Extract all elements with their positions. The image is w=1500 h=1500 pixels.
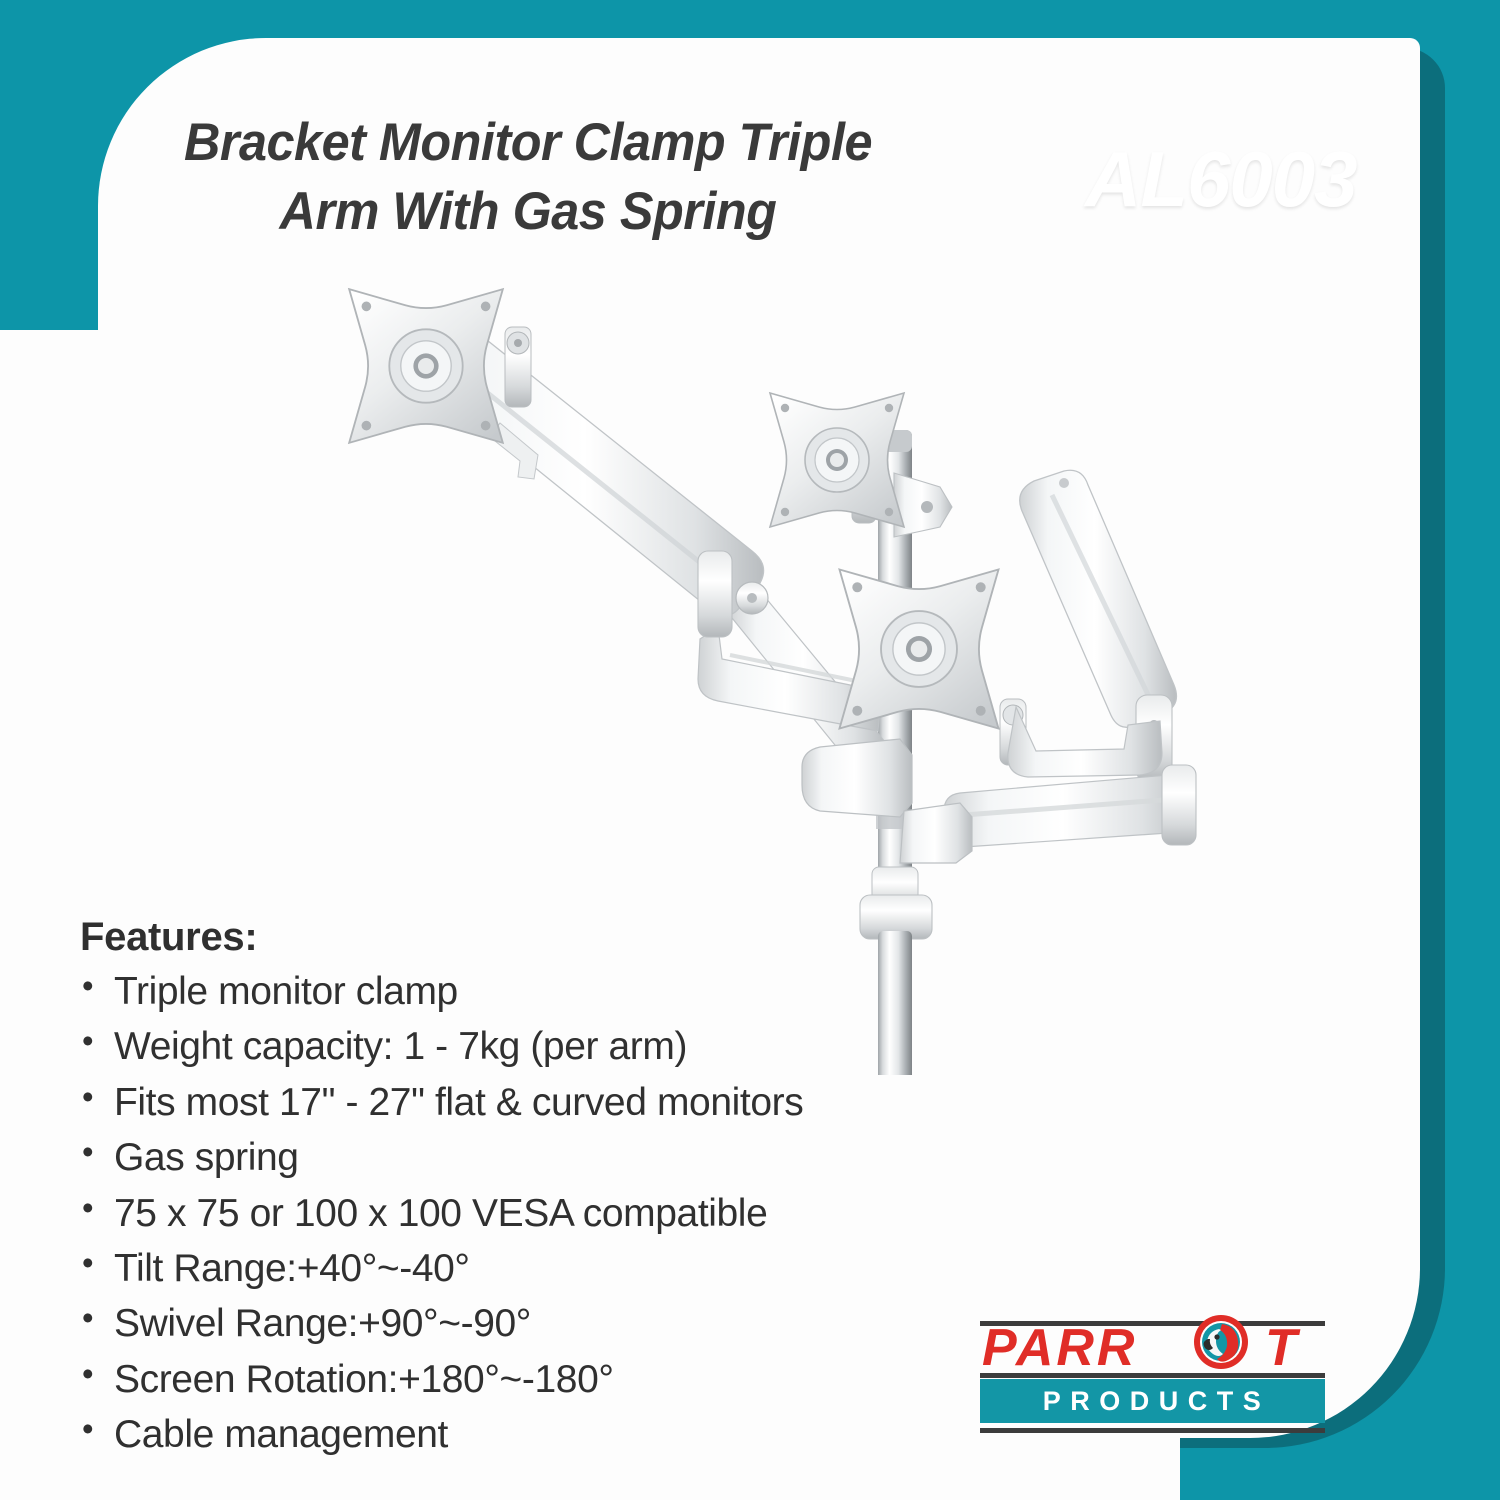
page-title: Bracket Monitor Clamp Triple Arm With Ga… (110, 108, 946, 247)
logo-tagline: PRODUCTS (980, 1379, 1325, 1423)
poster-canvas: Bracket Monitor Clamp Triple Arm With Ga… (0, 0, 1500, 1500)
logo-wordmark-post: T (1265, 1321, 1300, 1375)
feature-item: Triple monitor clamp (78, 964, 1038, 1019)
logo-wordmark-pre: PARR (982, 1321, 1137, 1375)
features-list: Triple monitor clamp Weight capacity: 1 … (78, 964, 1038, 1462)
feature-item: Gas spring (78, 1130, 1038, 1185)
logo-rule-middle (980, 1373, 1325, 1378)
feature-item: Screen Rotation:+180°~-180° (78, 1352, 1038, 1407)
page-title-line-1: Bracket Monitor Clamp Triple (110, 108, 946, 177)
product-sku-badge: AL6003 (1085, 140, 1357, 218)
feature-item: Weight capacity: 1 - 7kg (per arm) (78, 1019, 1038, 1074)
feature-item: Swivel Range:+90°~-90° (78, 1296, 1038, 1351)
feature-item: Tilt Range:+40°~-40° (78, 1241, 1038, 1296)
brand-logo: PARR T PRODUCTS (980, 1315, 1325, 1440)
feature-item: 75 x 75 or 100 x 100 VESA compatible (78, 1186, 1038, 1241)
feature-item: Cable management (78, 1407, 1038, 1462)
features-section: Features: Triple monitor clamp Weight ca… (78, 915, 1038, 1462)
parrot-head-icon (1192, 1313, 1250, 1371)
features-heading: Features: (80, 915, 1038, 960)
page-title-line-2: Arm With Gas Spring (110, 177, 946, 246)
feature-item: Fits most 17" - 27" flat & curved monito… (78, 1075, 1038, 1130)
logo-rule-bottom (980, 1428, 1325, 1433)
logo-wordmark: PARR T (980, 1321, 1325, 1375)
